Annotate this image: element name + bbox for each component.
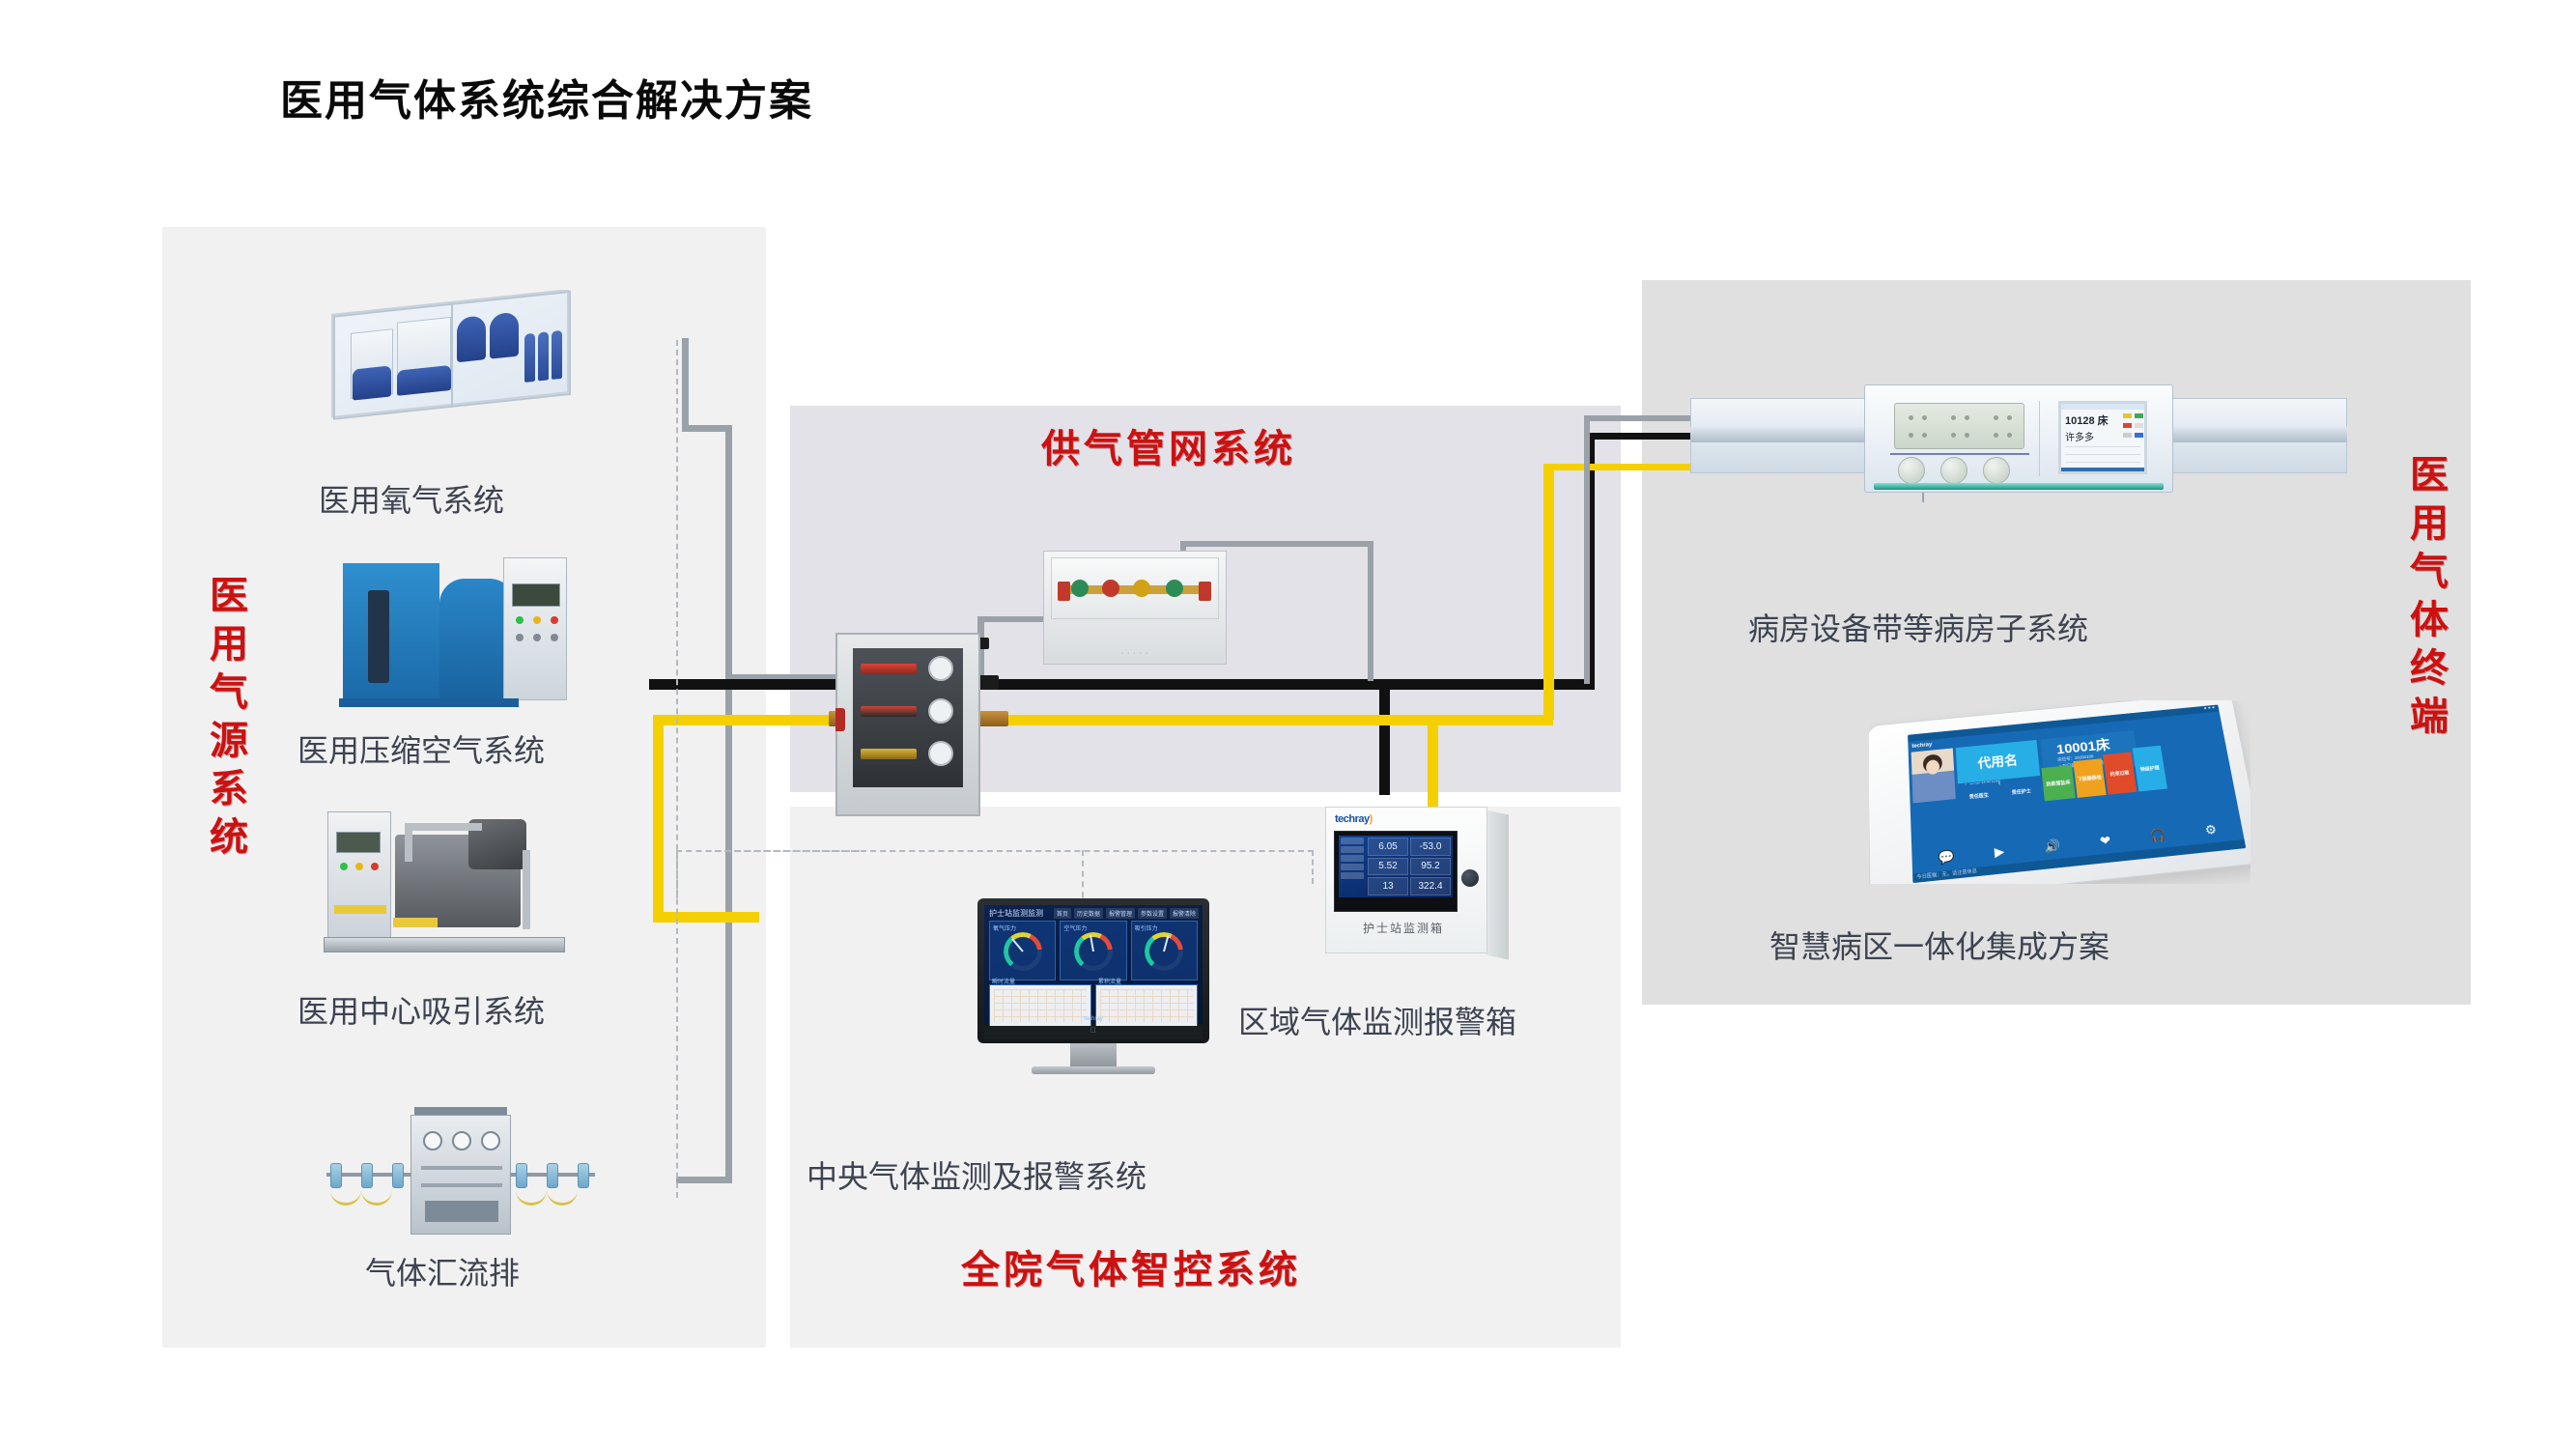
monitor-brand: techray bbox=[984, 1016, 1203, 1022]
pipe-gray-to-manifold bbox=[676, 1177, 732, 1183]
caption-smart-ward-solution: 智慧病区一体化集成方案 bbox=[1769, 923, 2109, 967]
image-bed-head-unit: 10128 床 许多多 bbox=[1690, 377, 2347, 502]
image-vacuum-suction-unit bbox=[324, 802, 584, 961]
signal-dash-control-bus bbox=[715, 850, 1314, 852]
monitor-screen-title: 护士站监测监测 bbox=[989, 908, 1043, 919]
monitor-foot bbox=[1032, 1066, 1155, 1074]
tablet-tile[interactable]: 下肢静脉栓 bbox=[2073, 758, 2106, 798]
image-gas-manifold bbox=[319, 1101, 599, 1256]
pipe-gray-terminal-riser bbox=[1584, 415, 1590, 684]
alarm-reading: 13 bbox=[1368, 877, 1408, 895]
signal-dash-vertical-upper bbox=[676, 340, 678, 898]
monitor-apple-logo:  bbox=[984, 1026, 1203, 1039]
alarm-reading: -53.0 bbox=[1410, 838, 1451, 856]
monitor-tab[interactable]: 报警清除 bbox=[1170, 908, 1199, 919]
alarm-box-brand: techray) bbox=[1335, 813, 1373, 825]
page-title: 医用气体系统综合解决方案 bbox=[280, 66, 813, 128]
monitor-gauge-label: 吸引压力 bbox=[1135, 923, 1158, 932]
signal-dash-to-alarmbox bbox=[1312, 850, 1314, 884]
monitor-tabs: 首页 历史数据 报警管理 参数设置 报警清除 bbox=[1054, 908, 1199, 919]
monitor-chart-label: 瞬时流量 bbox=[992, 977, 1015, 985]
pipe-yellow-main bbox=[978, 715, 1553, 725]
bed-head-display[interactable]: 10128 床 许多多 bbox=[2058, 401, 2147, 474]
pipe-black-main bbox=[978, 679, 1594, 690]
speaker-icon[interactable]: 🔊 bbox=[2044, 838, 2061, 855]
pipe-black-left bbox=[649, 679, 852, 690]
caption-compressed-air-system: 医用压缩空气系统 bbox=[297, 726, 545, 771]
image-oxygen-plant bbox=[314, 290, 584, 425]
image-network-manifold: · · · · · bbox=[1043, 551, 1227, 665]
monitor-stand bbox=[1070, 1043, 1117, 1068]
monitor-tab[interactable]: 首页 bbox=[1054, 908, 1071, 919]
pipe-yellow-riser bbox=[653, 715, 664, 923]
headset-icon[interactable]: 🎧 bbox=[2149, 827, 2167, 844]
caption-ward-bed-head-subsystem: 病房设备带等病房子系统 bbox=[1748, 605, 2088, 649]
alarm-box-menu[interactable] bbox=[1339, 836, 1366, 897]
caption-central-suction-system: 医用中心吸引系统 bbox=[297, 987, 545, 1032]
tablet-tile[interactable]: 责任医生 bbox=[1958, 781, 2000, 810]
bed-head-cord bbox=[1922, 493, 1924, 502]
pipe-gray-riser-low bbox=[725, 681, 732, 1183]
alarm-reading: 5.52 bbox=[1368, 858, 1408, 876]
caption-central-monitoring-system: 中央气体监测及报警系统 bbox=[807, 1152, 1146, 1197]
tablet-brand: techray bbox=[1911, 742, 1932, 750]
alarm-box-lock-icon[interactable] bbox=[1461, 869, 1479, 887]
section-label-gas-source: 医用气源系统 bbox=[205, 575, 245, 865]
image-air-compressor bbox=[333, 546, 575, 710]
monitor-gauge: 吸引压力 bbox=[1131, 921, 1198, 980]
tablet-tile[interactable]: 责任护士 bbox=[2000, 778, 2043, 806]
tablet-tile[interactable]: 防跌落坠床 bbox=[2041, 765, 2075, 801]
monitor-tab[interactable]: 报警管理 bbox=[1106, 908, 1135, 919]
pipe-gray-loop-right bbox=[1368, 541, 1373, 681]
patient-avatar bbox=[1911, 748, 1956, 803]
section-label-gas-control: 全院气体智控系统 bbox=[961, 1238, 1301, 1294]
caption-oxygen-system: 医用氧气系统 bbox=[319, 476, 504, 521]
pipe-yellow-riser-right bbox=[1543, 464, 1554, 720]
alarm-reading: 322.4 bbox=[1410, 877, 1451, 895]
alarm-reading: 6.05 bbox=[1368, 838, 1408, 856]
pipe-gray-riser-mid bbox=[725, 425, 732, 681]
pipe-gray-riser-top bbox=[682, 338, 689, 425]
bed-number: 10128 床 bbox=[2065, 412, 2109, 428]
pipe-black-drop bbox=[1379, 679, 1390, 795]
message-icon[interactable]: 💬 bbox=[1938, 849, 1955, 867]
tablet-patient-name: 代用名 bbox=[1956, 740, 2040, 783]
image-area-alarm-box: techray) 6.05 -53.0 5.52 95.2 13 322.4 bbox=[1325, 807, 1514, 961]
image-smart-ward-tablet: ● ● ● techray 代用名 女 35岁 特需住院 10001床 床位号：… bbox=[1869, 700, 2250, 884]
heart-icon[interactable]: ❤ bbox=[2099, 833, 2111, 849]
bed-head-light-bar bbox=[1874, 483, 2164, 490]
gear-icon[interactable]: ⚙ bbox=[2204, 822, 2219, 838]
image-valve-control-box bbox=[835, 633, 980, 816]
network-manifold-plate: · · · · · bbox=[1043, 650, 1227, 657]
tablet-tile[interactable]: 约束过敏 bbox=[2103, 752, 2137, 794]
section-label-pipe-network: 供气管网系统 bbox=[1041, 417, 1296, 473]
diagram-canvas: 医用气体系统综合解决方案 医用气源系统 bbox=[0, 0, 2576, 1449]
caption-area-alarm-box: 区域气体监测报警箱 bbox=[1238, 998, 1516, 1042]
tablet-tile[interactable]: 特级护理 bbox=[2133, 746, 2167, 792]
alarm-reading: 95.2 bbox=[1410, 858, 1451, 876]
alarm-box-readings: 6.05 -53.0 5.52 95.2 13 322.4 bbox=[1366, 836, 1453, 897]
monitor-gauge: 空气压力 bbox=[1060, 921, 1126, 980]
pipe-yellow-foot bbox=[653, 912, 759, 923]
patient-name: 许多多 bbox=[2065, 429, 2094, 443]
tablet-screen[interactable]: ● ● ● techray 代用名 女 35岁 特需住院 10001床 床位号：… bbox=[1908, 704, 2246, 883]
alarm-box-caption: 护士站监测箱 bbox=[1326, 920, 1481, 936]
caption-gas-manifold: 气体汇流排 bbox=[365, 1249, 520, 1293]
section-label-gas-terminal: 医用气体终端 bbox=[2405, 454, 2446, 744]
play-icon[interactable]: ▶ bbox=[1994, 843, 2005, 860]
monitor-gauge: 氧气压力 bbox=[989, 921, 1056, 980]
pipe-yellow-left bbox=[653, 715, 846, 725]
monitor-gauge-label: 空气压力 bbox=[1063, 923, 1087, 932]
monitor-chart-label: 累积流量 bbox=[1098, 977, 1121, 985]
monitor-gauge-row: 氧气压力 空气压力 吸引压力 bbox=[989, 921, 1198, 980]
alarm-box-screen[interactable]: 6.05 -53.0 5.52 95.2 13 322.4 bbox=[1334, 831, 1458, 912]
signal-dash-vertical-lower bbox=[676, 850, 678, 1198]
pipe-gray-loop-top bbox=[1180, 541, 1373, 547]
monitor-tab[interactable]: 参数设置 bbox=[1138, 908, 1167, 919]
image-central-monitor: 护士站监测监测 首页 历史数据 报警管理 参数设置 报警清除 氧气压力 空气压力 bbox=[977, 898, 1209, 1082]
monitor-tab[interactable]: 历史数据 bbox=[1074, 908, 1103, 919]
monitor-gauge-label: 氧气压力 bbox=[993, 923, 1016, 932]
